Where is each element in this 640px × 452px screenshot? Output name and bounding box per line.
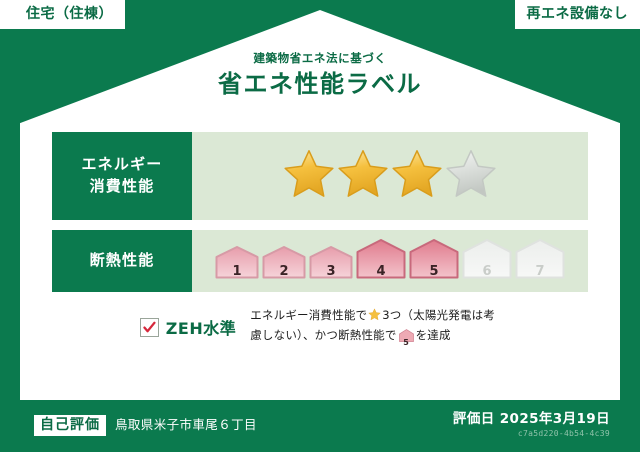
row-energy-performance: エネルギー 消費性能 <box>52 132 588 220</box>
energy-label-root: 住宅（住棟） 再エネ設備なし 建築物省エネ法に基づく 省エネ性能ラベル エネルギ… <box>0 0 640 452</box>
badge-renewable-energy: 再エネ設備なし <box>515 0 640 29</box>
zeh-description: エネルギー消費性能で3つ（太陽光発電は考慮しない）、かつ断熱性能で5を達成 <box>250 305 500 348</box>
zeh-standard: ZEH水準 <box>140 305 236 339</box>
house-grade-number: 4 <box>356 265 406 278</box>
star-icon-empty <box>445 148 497 204</box>
star-icon-filled <box>337 148 389 204</box>
footer-left: 自己評価 鳥取県米子市車尾６丁目 <box>34 414 257 436</box>
row-energy-label-line2: 消費性能 <box>90 176 155 198</box>
house-icon-achieved: 3 <box>309 246 353 283</box>
row-insulation-value: 1234567 <box>192 230 588 292</box>
evaluation-type-badge: 自己評価 <box>34 415 106 436</box>
badge-building-type: 住宅（住棟） <box>0 0 125 29</box>
evaluation-date-value: 2025年3月19日 <box>500 411 610 427</box>
row-energy-label: エネルギー 消費性能 <box>52 132 192 220</box>
property-address: 鳥取県米子市車尾６丁目 <box>115 414 257 433</box>
check-icon <box>143 321 156 334</box>
star-rating <box>283 148 497 204</box>
house-icon-inactive: 6 <box>462 239 512 283</box>
house-grade-number: 2 <box>262 265 306 278</box>
zeh-note: ZEH水準 エネルギー消費性能で3つ（太陽光発電は考慮しない）、かつ断熱性能で5… <box>52 305 588 348</box>
evaluation-date-label: 評価日 <box>453 411 495 427</box>
house-grade-number: 6 <box>462 265 512 278</box>
evaluation-date: 評価日 2025年3月19日 <box>453 411 610 427</box>
house-icon-inactive: 7 <box>515 239 565 283</box>
row-energy-label-line1: エネルギー <box>81 154 162 176</box>
house-icon-achieved: 1 <box>215 246 259 283</box>
zeh-label: ZEH水準 <box>166 315 236 339</box>
page-title: 省エネ性能ラベル <box>0 71 640 97</box>
star-icon-filled <box>283 148 335 204</box>
performance-rows: エネルギー 消費性能 断熱性能 1234567 <box>52 132 588 302</box>
house-grade-number: 1 <box>215 265 259 278</box>
zeh-desc-part4: を達成 <box>416 328 451 342</box>
row-insulation-performance: 断熱性能 1234567 <box>52 230 588 292</box>
house-icon-achieved: 2 <box>262 246 306 283</box>
house-grade-number: 3 <box>309 265 353 278</box>
footer-right: 評価日 2025年3月19日 c7a5d220-4b54-4c39 <box>453 411 610 438</box>
title-block: 建築物省エネ法に基づく 省エネ性能ラベル <box>0 52 640 97</box>
house-grade-number: 5 <box>409 265 459 278</box>
row-insulation-label: 断熱性能 <box>52 230 192 292</box>
row-insulation-label-line1: 断熱性能 <box>90 250 155 272</box>
house-icon-achieved: 5 <box>409 239 459 283</box>
zeh-desc-part1: エネルギー消費性能で <box>250 308 367 322</box>
house-grade-number: 7 <box>515 265 565 278</box>
row-energy-value <box>192 132 588 220</box>
insulation-grade-scale: 1234567 <box>215 239 565 283</box>
house-icon-inline-number: 5 <box>399 339 414 347</box>
star-icon-filled <box>391 148 443 204</box>
evaluation-hash: c7a5d220-4b54-4c39 <box>453 429 610 438</box>
house-icon-achieved: 4 <box>356 239 406 283</box>
footer: 自己評価 鳥取県米子市車尾６丁目 評価日 2025年3月19日 c7a5d220… <box>0 400 640 452</box>
house-icon-inline: 5 <box>399 328 414 348</box>
zeh-checkbox[interactable] <box>140 318 159 337</box>
zeh-desc-part2: 3つ（太陽光発電 <box>382 308 471 322</box>
star-icon-inline <box>368 308 381 321</box>
title-subtitle: 建築物省エネ法に基づく <box>0 52 640 65</box>
